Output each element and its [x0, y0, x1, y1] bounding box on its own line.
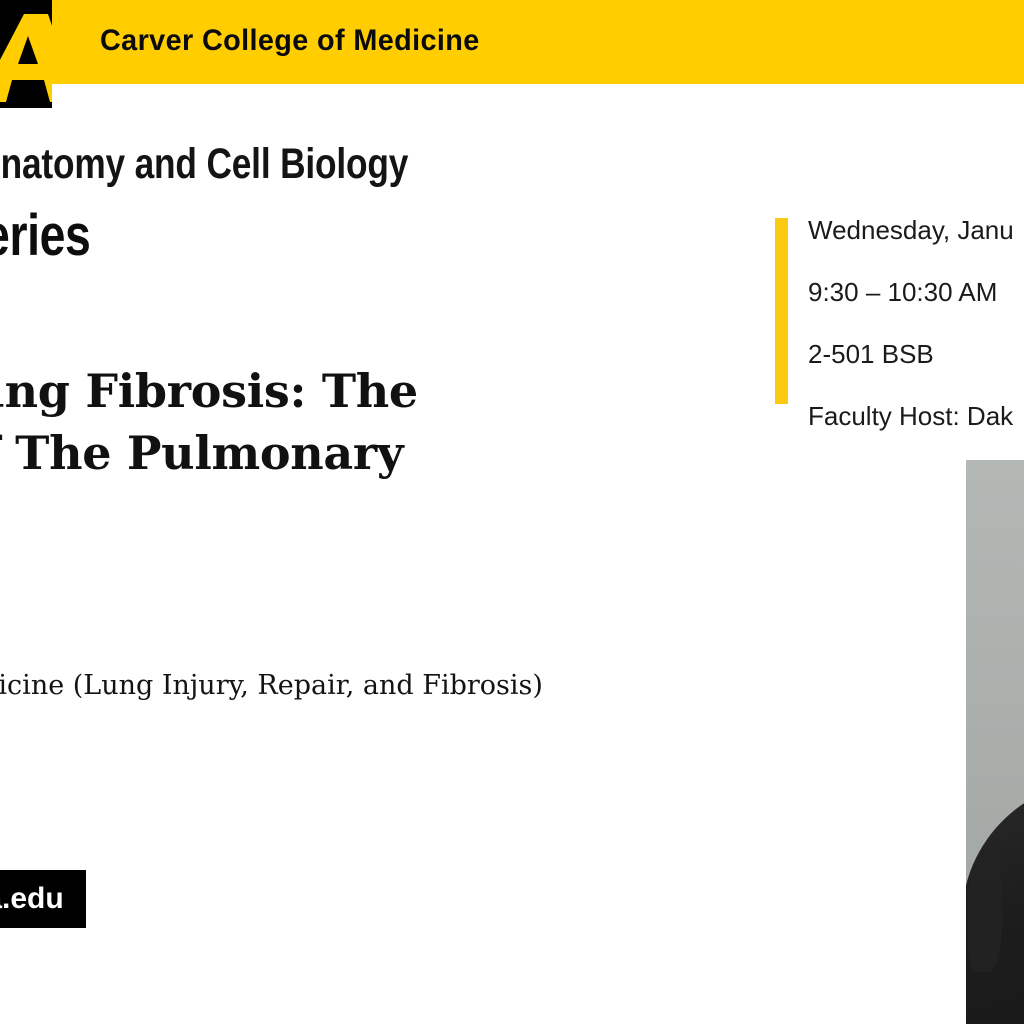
talk-title-line-2: Role Of The Pulmonary	[0, 422, 810, 484]
speaker-affiliation: rsity Chicago	[0, 746, 895, 780]
talk-title-line-3: ture	[0, 484, 810, 546]
header-title: Carver College of Medicine	[100, 24, 480, 58]
iowa-block-a-logo	[0, 0, 52, 108]
talk-title: king Lung Fibrosis: The Role Of The Pulm…	[0, 360, 810, 546]
talk-title-line-1: king Lung Fibrosis: The	[0, 360, 810, 422]
event-location: 2-501 BSB	[808, 338, 1024, 370]
speaker-role: ofessor of Medicine (Lung Injury, Repair…	[0, 669, 895, 703]
website-url-badge[interactable]: e.uiowa.edu	[0, 870, 86, 928]
event-host: Faculty Host: Dak	[808, 400, 1024, 432]
department-line: of Anatomy and Cell Biology	[0, 140, 408, 189]
speaker-portrait-photo	[966, 460, 1024, 1024]
portrait-shoulder-fold	[968, 852, 1002, 972]
event-time: 9:30 – 10:30 AM	[808, 276, 1024, 308]
speaker-name: rarello, PhD	[0, 592, 895, 626]
details-accent-bar	[775, 218, 788, 404]
event-date: Wednesday, Janu	[808, 214, 1024, 246]
speaker-block: rarello, PhD ofessor of Medicine (Lung I…	[0, 592, 895, 780]
seminar-series-line: nar Series	[0, 202, 90, 269]
details-lines: Wednesday, Janu 9:30 – 10:30 AM 2-501 BS…	[808, 214, 1024, 432]
seminar-flyer: Carver College of Medicine of Anatomy an…	[0, 0, 1024, 1024]
